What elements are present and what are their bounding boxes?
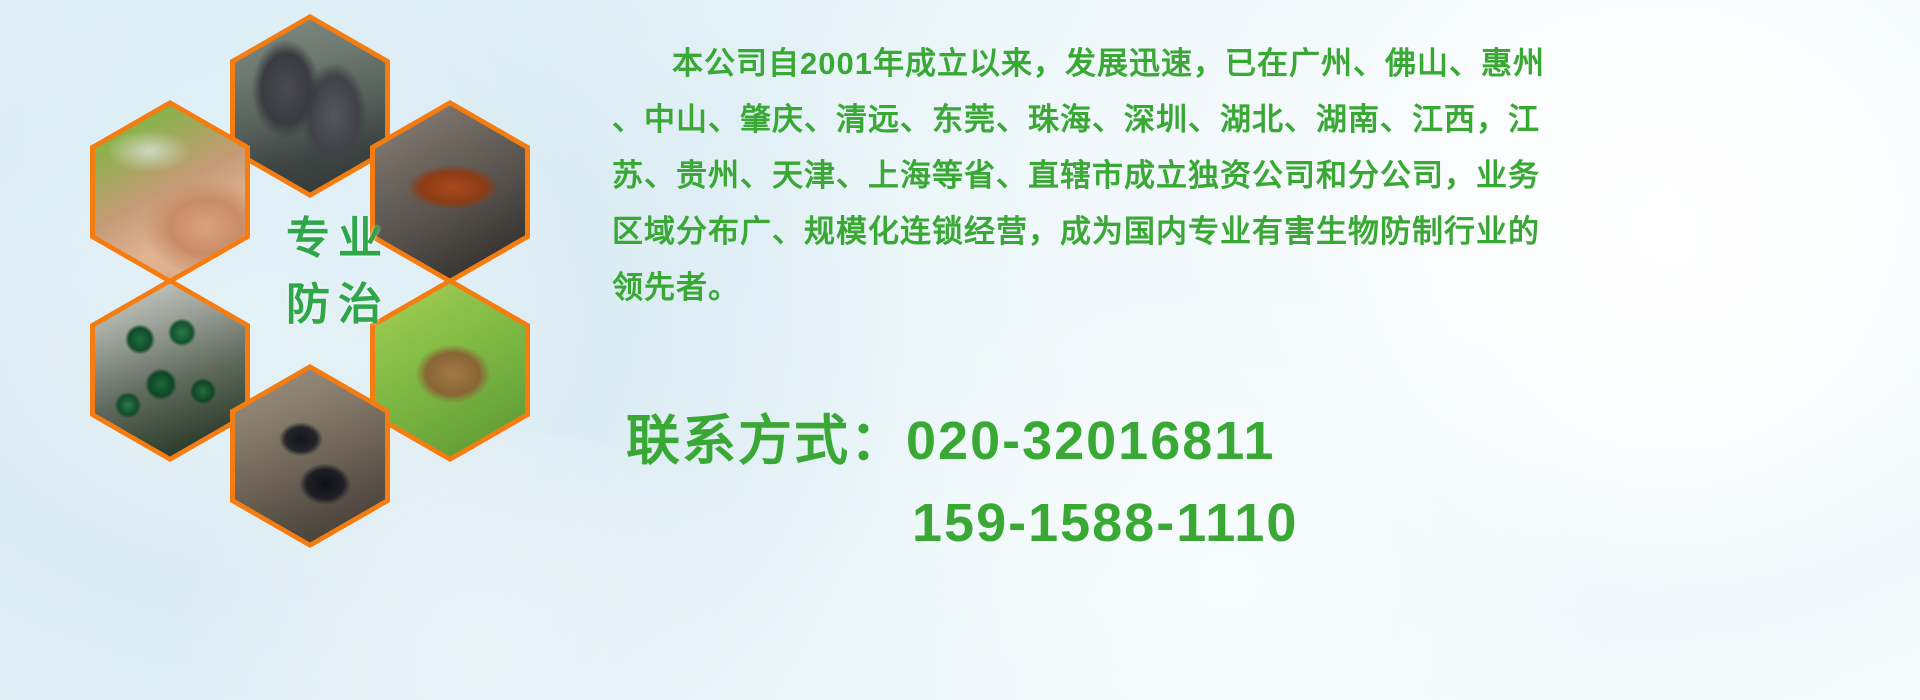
contact-phone-mobile[interactable]: 159-1588-1110 [612, 482, 1904, 564]
description-line: 区域分布广、规模化连锁经营，成为国内专业有害生物防制行业的 [612, 204, 1904, 260]
hexagon-cell-mosquito [90, 100, 250, 284]
description-line: 、中山、肇庆、清远、东莞、珠海、深圳、湖北、湖南、江西，江 [612, 92, 1904, 148]
description-line: 领先者。 [612, 260, 1904, 316]
contact-block: 联系方式：020-32016811 159-1588-1110 [612, 400, 1904, 564]
description-line: 苏、贵州、天津、上海等省、直辖市成立独资公司和分公司，业务 [612, 148, 1904, 204]
contact-phone-primary[interactable]: 联系方式：020-32016811 [612, 400, 1904, 482]
hexagon-label-line-1: 专业 [258, 206, 418, 272]
description-line: 本公司自2001年成立以来，发展迅速，已在广州、佛山、惠州 [612, 36, 1904, 92]
hexagon-photo-cluster: 专业 防治 [80, 8, 590, 568]
company-description: 本公司自2001年成立以来，发展迅速，已在广州、佛山、惠州 、中山、肇庆、清远、… [612, 36, 1904, 316]
hexagon-cell-flies [90, 278, 250, 462]
hexagon-center-label: 专业 防治 [258, 206, 418, 338]
hexagon-cell-ant [230, 364, 390, 548]
hexagon-label-line-2: 防治 [258, 272, 418, 338]
hexagon-cell-rats [230, 14, 390, 198]
company-intro-banner: 专业 防治 本公司自2001年成立以来，发展迅速，已在广州、佛山、惠州 、中山、… [0, 0, 1920, 700]
